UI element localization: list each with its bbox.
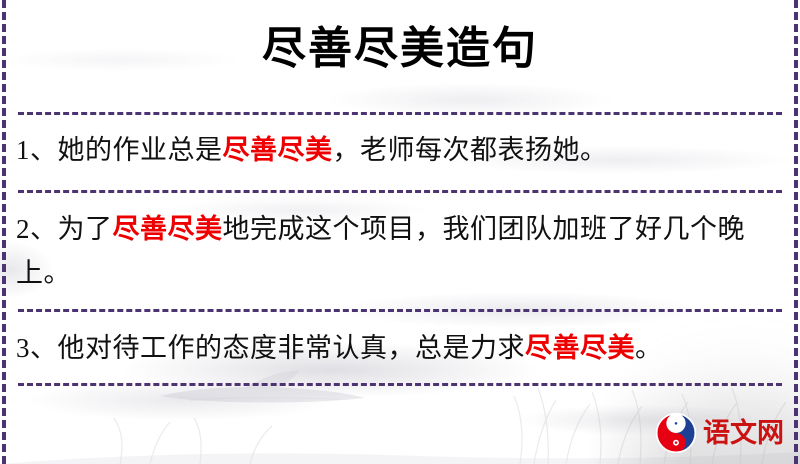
sentence-3-after: 。 (635, 333, 663, 363)
site-logo[interactable]: 语文网 (655, 410, 791, 456)
sentence-1-before: 她的作业总是 (58, 135, 223, 165)
sentence-item-1: 1、她的作业总是尽善尽美，老师每次都表扬她。 (16, 128, 786, 172)
page-title: 尽善尽美造句 (0, 18, 800, 80)
sentence-item-3: 3、他对待工作的态度非常认真，总是力求尽善尽美。 (16, 326, 786, 370)
sentence-3-highlight: 尽善尽美 (525, 333, 635, 363)
site-logo-text: 语文网 (703, 418, 784, 448)
separator-line-1 (18, 112, 782, 115)
sentence-item-2: 2、为了尽善尽美地完成这个项目，我们团队加班了好几个晚上。 (16, 207, 786, 295)
watermark-boat-icon (150, 366, 370, 406)
sentence-1-highlight: 尽善尽美 (223, 135, 333, 165)
sentence-1-index: 1、 (16, 135, 58, 165)
sentence-2-before: 为了 (58, 214, 113, 244)
separator-line-4 (18, 383, 782, 386)
slide-page: 尽善尽美造句 1、她的作业总是尽善尽美，老师每次都表扬她。 2、为了尽善尽美地完… (0, 0, 800, 464)
separator-line-3 (18, 309, 782, 312)
yin-yang-logo-icon (655, 412, 697, 454)
sentence-3-index: 3、 (16, 333, 58, 363)
sentence-2-highlight: 尽善尽美 (113, 214, 223, 244)
separator-line-2 (18, 190, 782, 193)
sentence-3-before: 他对待工作的态度非常认真，总是力求 (58, 333, 526, 363)
sentence-2-index: 2、 (16, 214, 58, 244)
sentence-1-after: ，老师每次都表扬她。 (333, 135, 608, 165)
